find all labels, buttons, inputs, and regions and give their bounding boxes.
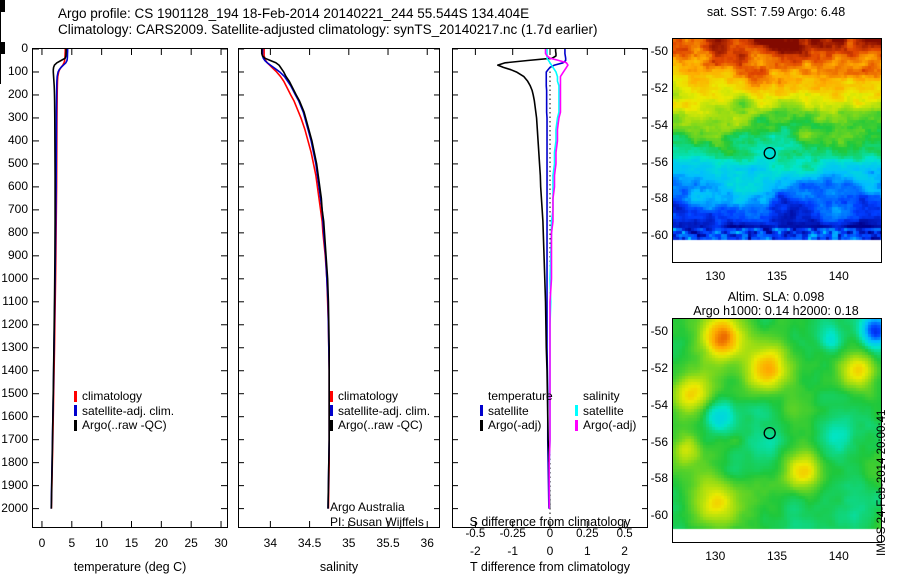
sla-map[interactable] [672,318,882,543]
y-tick-label-1700: 1700 [0,434,28,444]
y-tick-label-1300: 1300 [0,342,28,352]
map-lat-tick-sla--54: -54 [643,400,668,410]
legend-label: satellite-adj. clim. [82,404,174,419]
y-tick-label-700: 700 [0,204,28,214]
legend-swatch-icon [74,391,77,402]
map-lon-tick-sla-135: 135 [759,551,795,561]
figure-title: Argo profile: CS 1901128_194 18-Feb-2014… [58,6,698,38]
y-tick-label-1100: 1100 [0,296,28,306]
legend-swatch-icon [74,420,77,431]
figure-title-line-2: Climatology: CARS2009. Satellite-adjuste… [58,22,698,38]
sla-map-title-line-2: Argo h1000: 0.14 h2000: 0.18 [664,304,888,318]
legend-label: satellite [583,404,624,419]
legend-swatch-icon [480,405,483,416]
y-tick-label-1800: 1800 [0,457,28,467]
legend-item: satellite-adj. clim. [330,404,430,419]
difference-t-tick-2: 2 [602,546,648,556]
map-lat-tick-sla--52: -52 [643,363,668,373]
figure-title-line-1: Argo profile: CS 1901128_194 18-Feb-2014… [58,6,698,22]
map-lat-tick-sst--60: -60 [643,230,668,240]
legend-item: Argo(..raw -QC) [330,418,430,433]
difference-s-tick-0.5: 0.5 [602,529,648,539]
salinity-legend: climatologysatellite-adj. clim.Argo(..ra… [330,389,430,433]
map-lon-tick-sla-140: 140 [821,551,857,561]
y-tick-label-1200: 1200 [0,319,28,329]
legend-label: Argo(..raw -QC) [82,418,167,433]
legend-label: Argo(-adj) [488,418,541,433]
y-tick-label-1600: 1600 [0,411,28,421]
map-lat-tick-sst--52: -52 [643,83,668,93]
legend-label: satellite [488,404,529,419]
map-lon-tick-sst-135: 135 [759,271,795,281]
sst-map[interactable] [672,38,882,263]
map-lat-tick-sla--60: -60 [643,510,668,520]
imos-timestamp: IMOS 24-Feb-2014 20:00:41 [876,410,888,556]
y-tick-label-800: 800 [0,227,28,237]
legend-swatch-icon [74,405,77,416]
map-lon-tick-sla-130: 130 [697,551,733,561]
y-tick-label-100: 100 [0,66,28,76]
legend-item: satellite [575,404,636,419]
credit-block: Argo Australia PI: Susan Wijffels [330,500,424,529]
legend-swatch-icon [575,405,578,416]
map-lat-tick-sla--56: -56 [643,437,668,447]
sla-map-overlay [673,319,881,542]
legend-item: climatology [74,389,174,404]
y-tick-label-900: 900 [0,250,28,260]
legend-swatch-icon [575,420,578,431]
map-lat-tick-sla--58: -58 [643,473,668,483]
y-tick-label-400: 400 [0,135,28,145]
legend-item: climatology [330,389,430,404]
legend-swatch-icon [330,391,333,402]
y-tick-label-2000: 2000 [0,503,28,513]
map-lat-tick-sst--50: -50 [643,46,668,56]
legend-header: salinity [575,389,636,404]
legend-label: satellite-adj. clim. [338,404,430,419]
y-tick-label-1900: 1900 [0,480,28,490]
legend-label: climatology [338,389,398,404]
salinity-x-tick-36: 36 [404,538,450,548]
map-lat-tick-sst--54: -54 [643,120,668,130]
difference-s-axis-label: S difference from climatology [452,515,648,529]
temperature-axis-label: temperature (deg C) [32,560,228,574]
legend-label: Argo(-adj) [583,418,636,433]
map-lat-tick-sla--50: -50 [643,326,668,336]
y-tick-label-600: 600 [0,181,28,191]
difference-legend-salinity: salinitysatelliteArgo(-adj) [575,389,636,433]
temperature-legend: climatologysatellite-adj. clim.Argo(..ra… [74,389,174,433]
legend-item: satellite-adj. clim. [74,404,174,419]
map-lat-tick-sst--56: -56 [643,157,668,167]
difference-profile-panel [452,48,648,528]
map-lon-tickmark [0,79,1,84]
credit-line-2: PI: Susan Wijffels [330,515,424,530]
legend-item: Argo(-adj) [575,418,636,433]
credit-line-1: Argo Australia [330,500,424,515]
legend-item: satellite [480,404,553,419]
salinity-axis-label: salinity [238,560,440,574]
y-tick-label-0: 0 [0,43,28,53]
temperature-plot-area [33,49,227,527]
y-tick-label-1000: 1000 [0,273,28,283]
salinity-profile-panel [238,48,440,528]
legend-label: climatology [82,389,142,404]
y-tick-label-500: 500 [0,158,28,168]
legend-label: Argo(..raw -QC) [338,418,423,433]
y-tick-label-1500: 1500 [0,388,28,398]
difference-t-axis-label: T difference from climatology [452,560,648,574]
y-tick-label-300: 300 [0,112,28,122]
y-tick-label-200: 200 [0,89,28,99]
map-lon-tick-sst-140: 140 [821,271,857,281]
y-tick-label-1400: 1400 [0,365,28,375]
legend-header: temperature [480,389,553,404]
legend-item: Argo(..raw -QC) [74,418,174,433]
sla-map-title: Altim. SLA: 0.098 Argo h1000: 0.14 h2000… [664,290,888,318]
map-lat-tick-sst--58: -58 [643,193,668,203]
salinity-plot-area [239,49,439,527]
difference-plot-area [453,49,647,527]
legend-item: Argo(-adj) [480,418,553,433]
sst-map-overlay [673,39,881,262]
temperature-profile-panel [32,48,228,528]
sla-map-title-line-1: Altim. SLA: 0.098 [664,290,888,304]
legend-swatch-icon [330,420,333,431]
temperature-x-tick-30: 30 [198,538,244,548]
map-lon-tick-sst-130: 130 [697,271,733,281]
difference-legend-temperature: temperaturesatelliteArgo(-adj) [480,389,553,433]
legend-swatch-icon [480,420,483,431]
sst-map-title: sat. SST: 7.59 Argo: 6.48 [664,5,888,19]
legend-swatch-icon [330,405,333,416]
